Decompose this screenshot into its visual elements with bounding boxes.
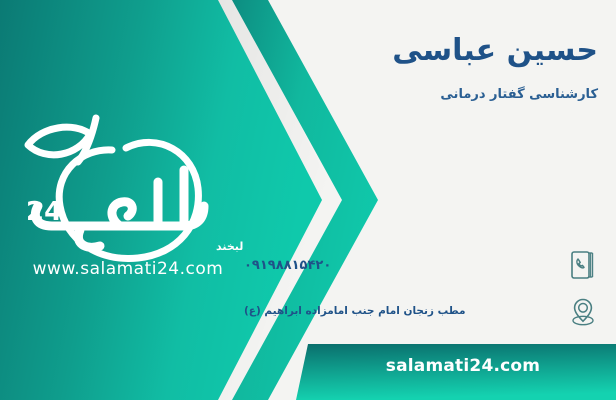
badge-24-label: 24 [26,197,62,227]
logo-website: www.salamati24.com [33,259,224,278]
business-card: 24 به راحتی یک لبخند www.salamati24.com … [0,0,616,400]
wordmark-ya [78,230,100,247]
phonebook-icon [566,246,600,284]
contact-row-address[interactable]: مطب زنجان امام جنب امامزاده ابراهیم (ع) [240,292,600,330]
contact-row-phone[interactable]: ۰۹۱۹۸۸۱۵۴۲۰ [240,246,600,284]
person-name: حسین عباسی [268,34,598,69]
footer-website[interactable]: salamati24.com [318,356,608,376]
person-role: کارشناسی گفتار درمانی [268,87,598,102]
brand-logo: 24 به راحتی یک لبخند www.salamati24.com [8,108,248,278]
logo-artwork: 24 به راحتی یک لبخند www.salamati24.com [8,108,248,278]
location-pin-icon [566,292,600,330]
apple-leaf-icon [28,127,90,155]
phone-number: ۰۹۱۹۸۸۱۵۴۲۰ [240,258,556,273]
contact-list: ۰۹۱۹۸۸۱۵۴۲۰ مطب زنجان امام جنب امامزاده … [240,246,600,338]
person-info: حسین عباسی کارشناسی گفتار درمانی [268,34,598,102]
badge-24: 24 [26,197,62,227]
address: مطب زنجان امام جنب امامزاده ابراهیم (ع) [240,305,556,317]
